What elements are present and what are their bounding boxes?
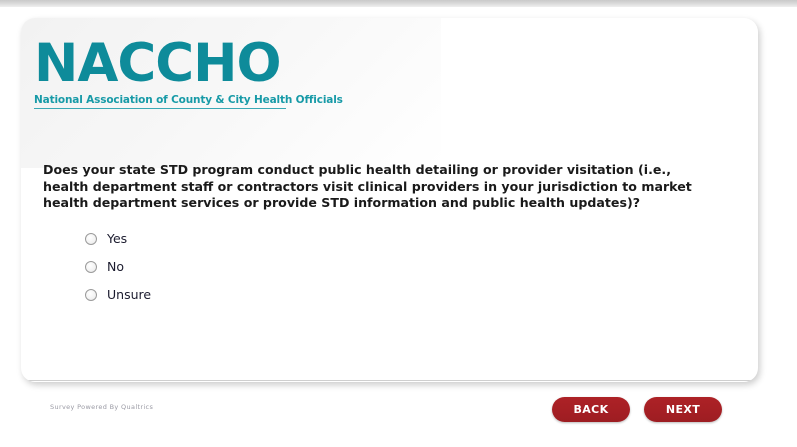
choice-label: Yes [107, 232, 127, 246]
choice-option-yes[interactable]: Yes [85, 225, 485, 253]
top-browser-strip [0, 0, 797, 7]
choice-option-no[interactable]: No [85, 253, 485, 281]
back-button[interactable]: BACK [552, 397, 630, 422]
answer-choice-list: Yes No Unsure [85, 225, 485, 309]
logo-underline-rule [34, 108, 286, 109]
choice-option-unsure[interactable]: Unsure [85, 281, 485, 309]
qualtrics-credit: Survey Powered By Qualtrics [50, 403, 153, 411]
question-prompt: Does your state STD program conduct publ… [43, 162, 715, 212]
choice-label: No [107, 260, 124, 274]
naccho-logo: NACCHO National Association of County & … [34, 37, 334, 109]
survey-card: NACCHO National Association of County & … [21, 18, 758, 382]
naccho-tagline: National Association of County & City He… [34, 94, 334, 106]
choice-label: Unsure [107, 288, 151, 302]
card-bottom-separator [21, 380, 758, 381]
radio-button-icon[interactable] [85, 261, 97, 273]
radio-button-icon[interactable] [85, 233, 97, 245]
survey-navigation: BACK NEXT [552, 397, 722, 422]
radio-button-icon[interactable] [85, 289, 97, 301]
next-button[interactable]: NEXT [644, 397, 722, 422]
naccho-wordmark: NACCHO [34, 37, 334, 90]
